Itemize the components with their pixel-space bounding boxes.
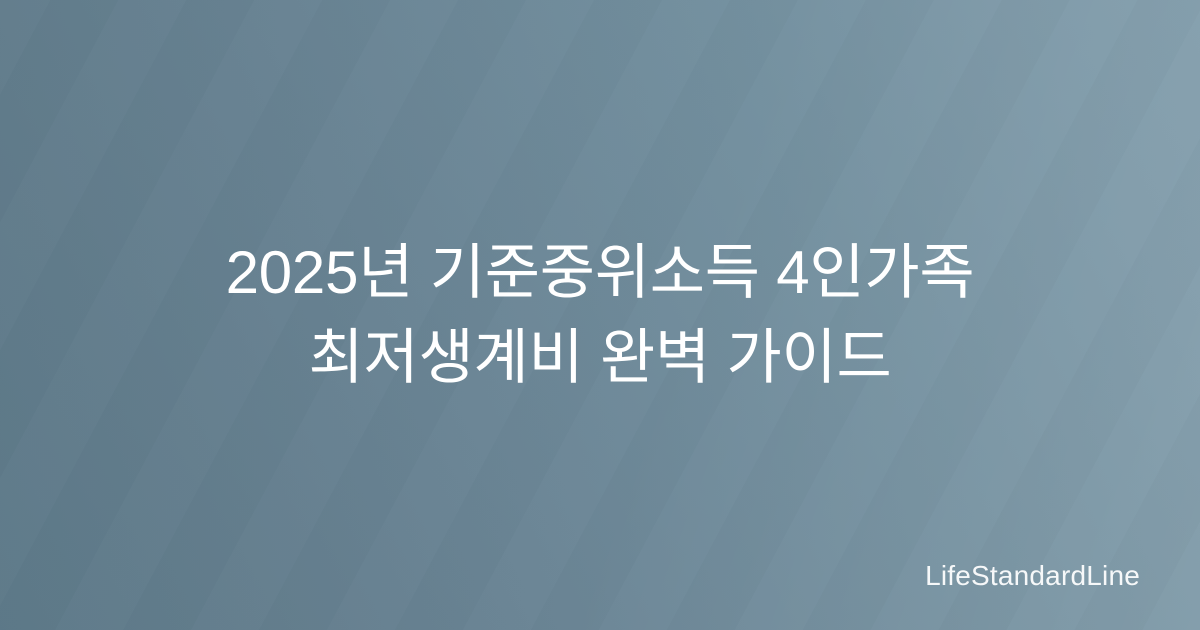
site-watermark: LifeStandardLine <box>925 562 1140 590</box>
page-title: 2025년 기준중위소득 4인가족 최저생계비 완벽 가이드 <box>100 230 1100 400</box>
card-content: 2025년 기준중위소득 4인가족 최저생계비 완벽 가이드 <box>0 0 1200 630</box>
og-card: 2025년 기준중위소득 4인가족 최저생계비 완벽 가이드 LifeStand… <box>0 0 1200 630</box>
